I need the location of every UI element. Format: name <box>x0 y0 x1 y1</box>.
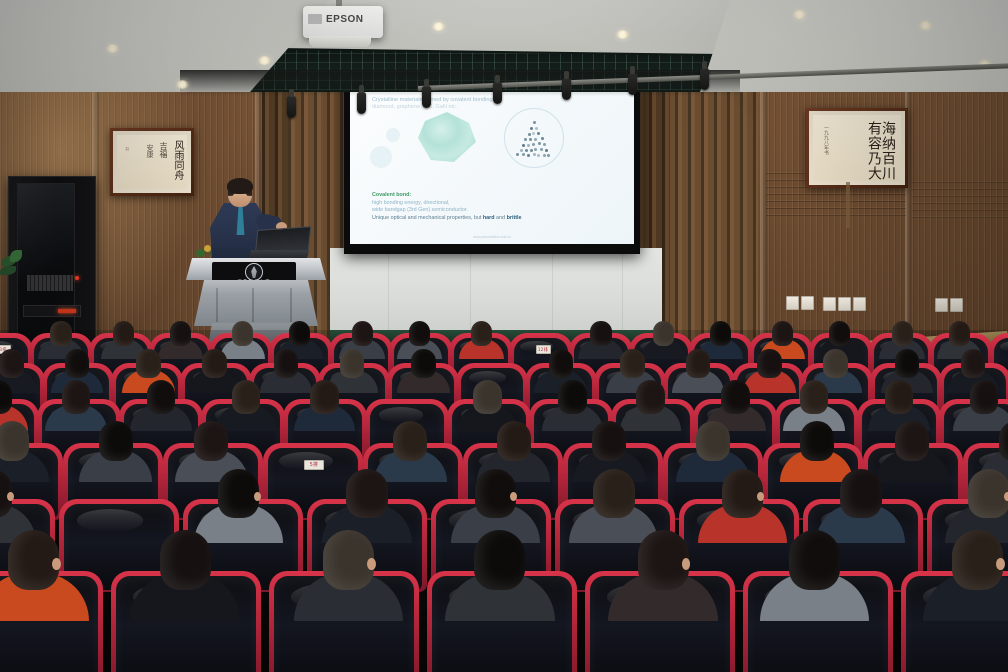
audience-member-head <box>471 321 492 346</box>
slide-bullet-2: wide bandgap (3rd Gen) semiconductor. <box>372 207 522 214</box>
seat-highlight <box>379 407 423 422</box>
audience-member-head <box>65 349 89 378</box>
audience-member-head <box>218 469 259 518</box>
audience-member-head <box>968 469 1008 518</box>
audience-member-ear <box>682 558 691 570</box>
projector-brand-label: EPSON <box>326 14 364 25</box>
calligraphy-right: 海纳百川 有容乃大 一九九八年书 <box>806 108 908 188</box>
audience-member-head <box>949 321 970 346</box>
presenter-hair <box>227 178 253 194</box>
audience-member-head <box>593 469 634 518</box>
stage-spotlight <box>700 68 709 90</box>
lattice-atom <box>516 153 519 156</box>
audience-member-head <box>202 349 226 378</box>
lattice-atom <box>543 143 546 146</box>
wall-switch[interactable] <box>823 297 836 311</box>
audience-member-head <box>393 421 427 461</box>
lattice-atom <box>541 137 544 140</box>
projector-vent <box>308 14 322 24</box>
ceiling-downlight <box>432 22 445 31</box>
lattice-atom <box>522 144 525 147</box>
audience-member-head <box>352 321 373 346</box>
lattice-atom <box>545 149 548 152</box>
lattice-atom <box>530 149 533 152</box>
audience-member-head <box>232 380 261 414</box>
audience-member-ear <box>7 492 14 502</box>
ceiling-shadow <box>180 70 740 96</box>
audience-member-head <box>232 321 253 346</box>
audience-member-head <box>194 421 228 461</box>
wall-outlet[interactable] <box>801 296 814 310</box>
frame-support <box>846 182 850 228</box>
audience-member-head <box>636 380 665 414</box>
lattice-atom <box>520 149 523 152</box>
lattice-atom <box>532 143 535 146</box>
audience-member-head <box>62 380 91 414</box>
audience-member-head <box>696 421 730 461</box>
ceiling-projector: EPSON <box>303 6 383 38</box>
lattice-atom <box>522 153 525 156</box>
audience-member-head <box>961 349 985 378</box>
audience-member-ear <box>996 558 1005 570</box>
audience-member-head <box>170 321 191 346</box>
stage-spotlight <box>628 73 637 95</box>
audience-member-head <box>710 321 731 346</box>
audience-member-head <box>800 421 834 461</box>
seat-number-tag: 12排 <box>536 345 551 354</box>
audience-member-head <box>638 530 689 590</box>
audience-member-ear <box>254 492 261 502</box>
lattice-atom <box>532 132 535 135</box>
ceiling-downlight <box>919 21 932 30</box>
stage-spotlight <box>562 78 571 100</box>
audience-member-head <box>50 321 71 346</box>
slide-bullet-head: Covalent bond: <box>372 192 522 199</box>
lattice-atom <box>534 148 537 151</box>
audience-member-head <box>497 421 531 461</box>
ceiling-downlight <box>793 10 806 19</box>
wall-slat-band <box>912 176 1008 218</box>
lattice-atom <box>533 153 536 156</box>
rack-control-keypad[interactable] <box>27 275 73 291</box>
slide-bullets: Covalent bond: high bonding energy, dire… <box>372 192 522 222</box>
lattice-atom <box>543 154 546 157</box>
lattice-atom <box>533 121 536 124</box>
projector-lens-housing <box>309 36 371 47</box>
wall-outlet[interactable] <box>786 296 799 310</box>
audience-member-head <box>289 321 310 346</box>
ceiling-downlight <box>258 56 271 65</box>
audience-member-head <box>474 530 525 590</box>
slide-subtitle: Crystalline materials formed by covalent… <box>372 97 494 111</box>
audience-member-head <box>160 530 211 590</box>
slide-subtitle-line2: diamond, graphene, SiC, GaN etc. <box>372 104 494 111</box>
presenter-face <box>232 192 248 206</box>
audience-member-head <box>653 321 674 346</box>
slide-bullet-3: Unique optical and mechanical properties… <box>372 215 522 222</box>
rack-amplifier-unit[interactable] <box>23 305 81 317</box>
audience-member-head <box>0 421 29 461</box>
lattice-atom <box>528 133 531 136</box>
audience-member-head <box>340 349 364 378</box>
audience-member-head <box>310 380 339 414</box>
audience-member-head <box>823 349 847 378</box>
ceiling-downlight <box>106 44 119 53</box>
slide-footer: www.presentation.edu.cn <box>350 235 634 239</box>
audience-member-head <box>147 380 176 414</box>
wall-outlet[interactable] <box>935 298 948 312</box>
audience-member-head <box>409 321 430 346</box>
lattice-atom <box>529 138 532 141</box>
lecture-hall-photo: QIYU 齐鲁工业大学 Networked Covalent Crystals网… <box>0 0 1008 672</box>
lattice-atom <box>530 127 533 130</box>
audience-member-head <box>323 530 374 590</box>
slide-ghost-shape <box>370 146 392 168</box>
audience-member-head <box>885 380 914 414</box>
diamond-crystal-image <box>418 112 476 162</box>
wall-switch[interactable] <box>838 297 851 311</box>
lattice-atom <box>538 142 541 145</box>
audience-member-head <box>346 469 387 518</box>
slide-bullet-1: high bonding energy, directional, <box>372 200 522 207</box>
lattice-atom <box>535 127 538 130</box>
audience-member-ear <box>367 558 376 570</box>
audience-member-head <box>757 349 781 378</box>
lattice-atom <box>525 149 528 152</box>
audience-member-head <box>620 349 644 378</box>
slide-subtitle-line1: Crystalline materials formed by covalent… <box>372 97 494 104</box>
calligraphy-right-text: 海纳百川 有容乃大 <box>867 121 895 181</box>
wall-outlet[interactable] <box>950 298 963 312</box>
lattice-atom <box>537 132 540 135</box>
atomic-lattice-diagram <box>504 108 564 168</box>
slide-ghost-shape <box>386 128 400 142</box>
audience-member-head <box>549 349 573 378</box>
audience-member-head <box>892 321 913 346</box>
audience-member-head <box>99 421 133 461</box>
audience-member-head <box>789 530 840 590</box>
podium-body <box>194 280 318 326</box>
presenter-laptop-base[interactable] <box>249 250 309 259</box>
stage-spotlight <box>357 92 366 114</box>
lattice-atom <box>527 154 530 157</box>
audience-member-head <box>411 349 435 378</box>
audience-member-head <box>895 349 919 378</box>
wall-pilaster <box>760 74 767 364</box>
audience-member-head <box>136 349 160 378</box>
audience-member-head <box>113 321 134 346</box>
stage-spotlight <box>493 82 502 104</box>
lattice-atom <box>534 138 537 141</box>
audience-member-head <box>686 349 710 378</box>
audience-member-head <box>0 349 24 378</box>
calligraphy-left: 风雨同舟 吉福 安康 书 <box>110 128 194 196</box>
lattice-atom <box>540 148 543 151</box>
audience-member-head <box>274 349 298 378</box>
lattice-atom <box>537 154 540 157</box>
audience-member-head <box>592 421 626 461</box>
lattice-atom <box>524 138 527 141</box>
stage-spotlight <box>287 96 296 118</box>
audience-member-head <box>970 380 999 414</box>
audience-member-head <box>473 380 502 414</box>
audience-member-head <box>895 421 929 461</box>
seat-highlight <box>77 509 143 531</box>
audience-member-head <box>590 321 611 346</box>
ceiling-downlight <box>176 80 189 89</box>
calligraphy-left-text: 风雨同舟 <box>172 140 182 180</box>
audience-member-ear <box>1004 492 1008 502</box>
stage-spotlight <box>422 86 431 108</box>
amplifier-led <box>58 309 76 313</box>
lattice-atom <box>547 154 550 157</box>
wall-switch[interactable] <box>853 297 866 311</box>
seat-number-tag: 5排 <box>304 460 324 470</box>
potted-plant <box>0 250 28 292</box>
audience-member-head <box>829 321 850 346</box>
audience-member-head <box>721 380 750 414</box>
ceiling-downlight <box>616 30 629 39</box>
audience-member-head <box>800 380 829 414</box>
audience-member-ear <box>52 558 61 570</box>
audience-member-head <box>772 321 793 346</box>
audience-member-head <box>840 469 881 518</box>
rack-status-led <box>75 276 79 280</box>
audience-member-head <box>558 380 587 414</box>
lattice-atom <box>527 144 530 147</box>
